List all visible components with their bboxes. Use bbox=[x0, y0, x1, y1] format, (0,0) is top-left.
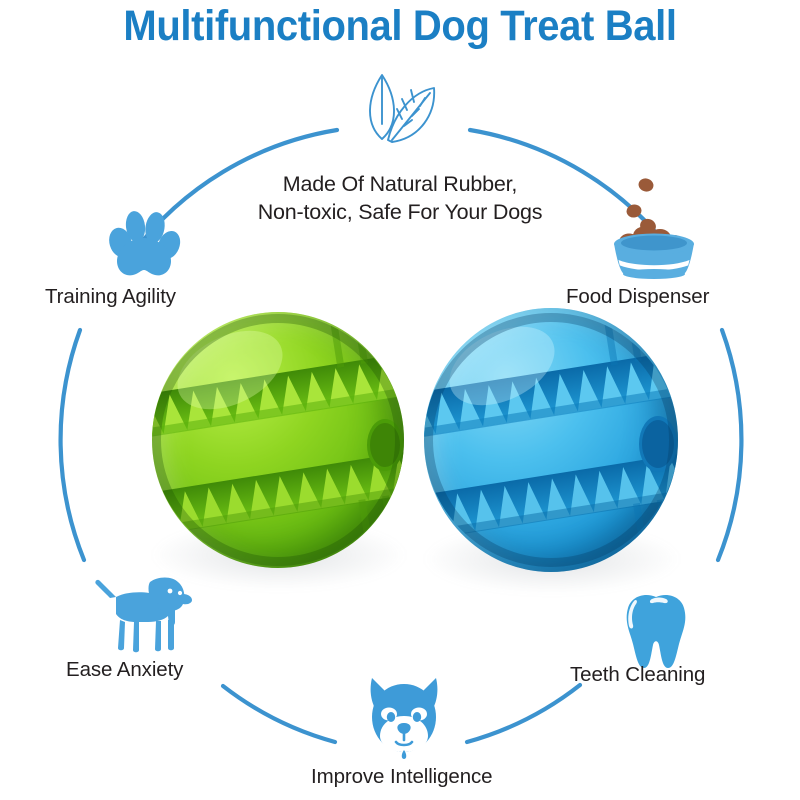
feature-label-food-dispenser: Food Dispenser bbox=[566, 285, 709, 309]
infographic-canvas: Multifunctional Dog Treat Ball bbox=[0, 0, 800, 800]
feature-label-ease-anxiety: Ease Anxiety bbox=[66, 658, 183, 682]
arc-left bbox=[61, 330, 84, 560]
arc-bottomright bbox=[467, 685, 580, 742]
leaf-icon bbox=[352, 62, 452, 162]
feature-label-training-agility: Training Agility bbox=[45, 285, 176, 309]
food-bowl-icon bbox=[594, 168, 714, 280]
feature-label-teeth-cleaning: Teeth Cleaning bbox=[570, 663, 705, 687]
dog-face-icon bbox=[358, 672, 450, 760]
feature-label-improve-intelligence: Improve Intelligence bbox=[311, 765, 492, 789]
paw-print-icon bbox=[98, 208, 182, 286]
arc-bottomleft bbox=[223, 686, 335, 742]
product-blue-ball bbox=[424, 308, 678, 572]
arc-right bbox=[718, 330, 741, 560]
product-green-ball bbox=[152, 312, 404, 568]
